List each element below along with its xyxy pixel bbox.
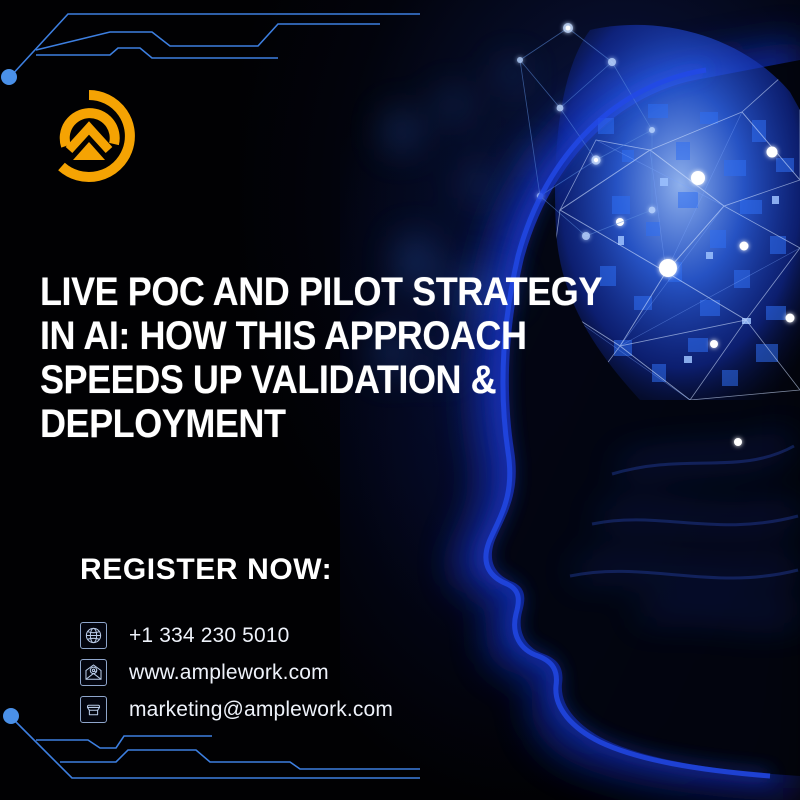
contact-value-email-address: marketing@amplework.com: [129, 698, 393, 722]
contact-value-phone-number: +1 334 230 5010: [129, 624, 290, 648]
contact-row-phone-number[interactable]: +1 334 230 5010: [80, 618, 520, 653]
contact-row-website[interactable]: www.amplework.com: [80, 655, 520, 690]
register-now-heading: REGISTER NOW:: [80, 553, 332, 587]
contact-row-email-address[interactable]: marketing@amplework.com: [80, 692, 520, 727]
neural-wisps: [576, 440, 800, 615]
circuit-node-bottom: [3, 708, 19, 724]
contact-list: +1 334 230 5010 www.amplework.com: [80, 618, 520, 729]
logo-mark-icon: [41, 88, 137, 184]
wisp-highlight-node: [734, 438, 742, 446]
head-rim-light: [486, 70, 770, 776]
headline: LIVE POC AND PILOT STRATEGY IN AI: HOW T…: [40, 270, 520, 446]
email-envelope-icon: [80, 659, 107, 686]
headline-line-3: SPEEDS UP VALIDATION &: [40, 358, 472, 402]
contact-value-website: www.amplework.com: [129, 661, 329, 685]
amplework-logo[interactable]: [41, 88, 137, 184]
telephone-icon: [80, 696, 107, 723]
globe-icon: [80, 622, 107, 649]
circuit-node-top: [1, 69, 17, 85]
poster-canvas: LIVE POC AND PILOT STRATEGY IN AI: HOW T…: [0, 0, 800, 800]
neural-wisp-lines: [570, 446, 798, 578]
headline-line-1: LIVE POC AND PILOT STRATEGY: [40, 270, 472, 314]
polygon-brain: [540, 0, 800, 410]
headline-line-2: IN AI: HOW THIS APPROACH: [40, 314, 472, 358]
network-nodes-overlay: [517, 23, 655, 240]
headline-line-4: DEPLOYMENT: [40, 402, 472, 446]
